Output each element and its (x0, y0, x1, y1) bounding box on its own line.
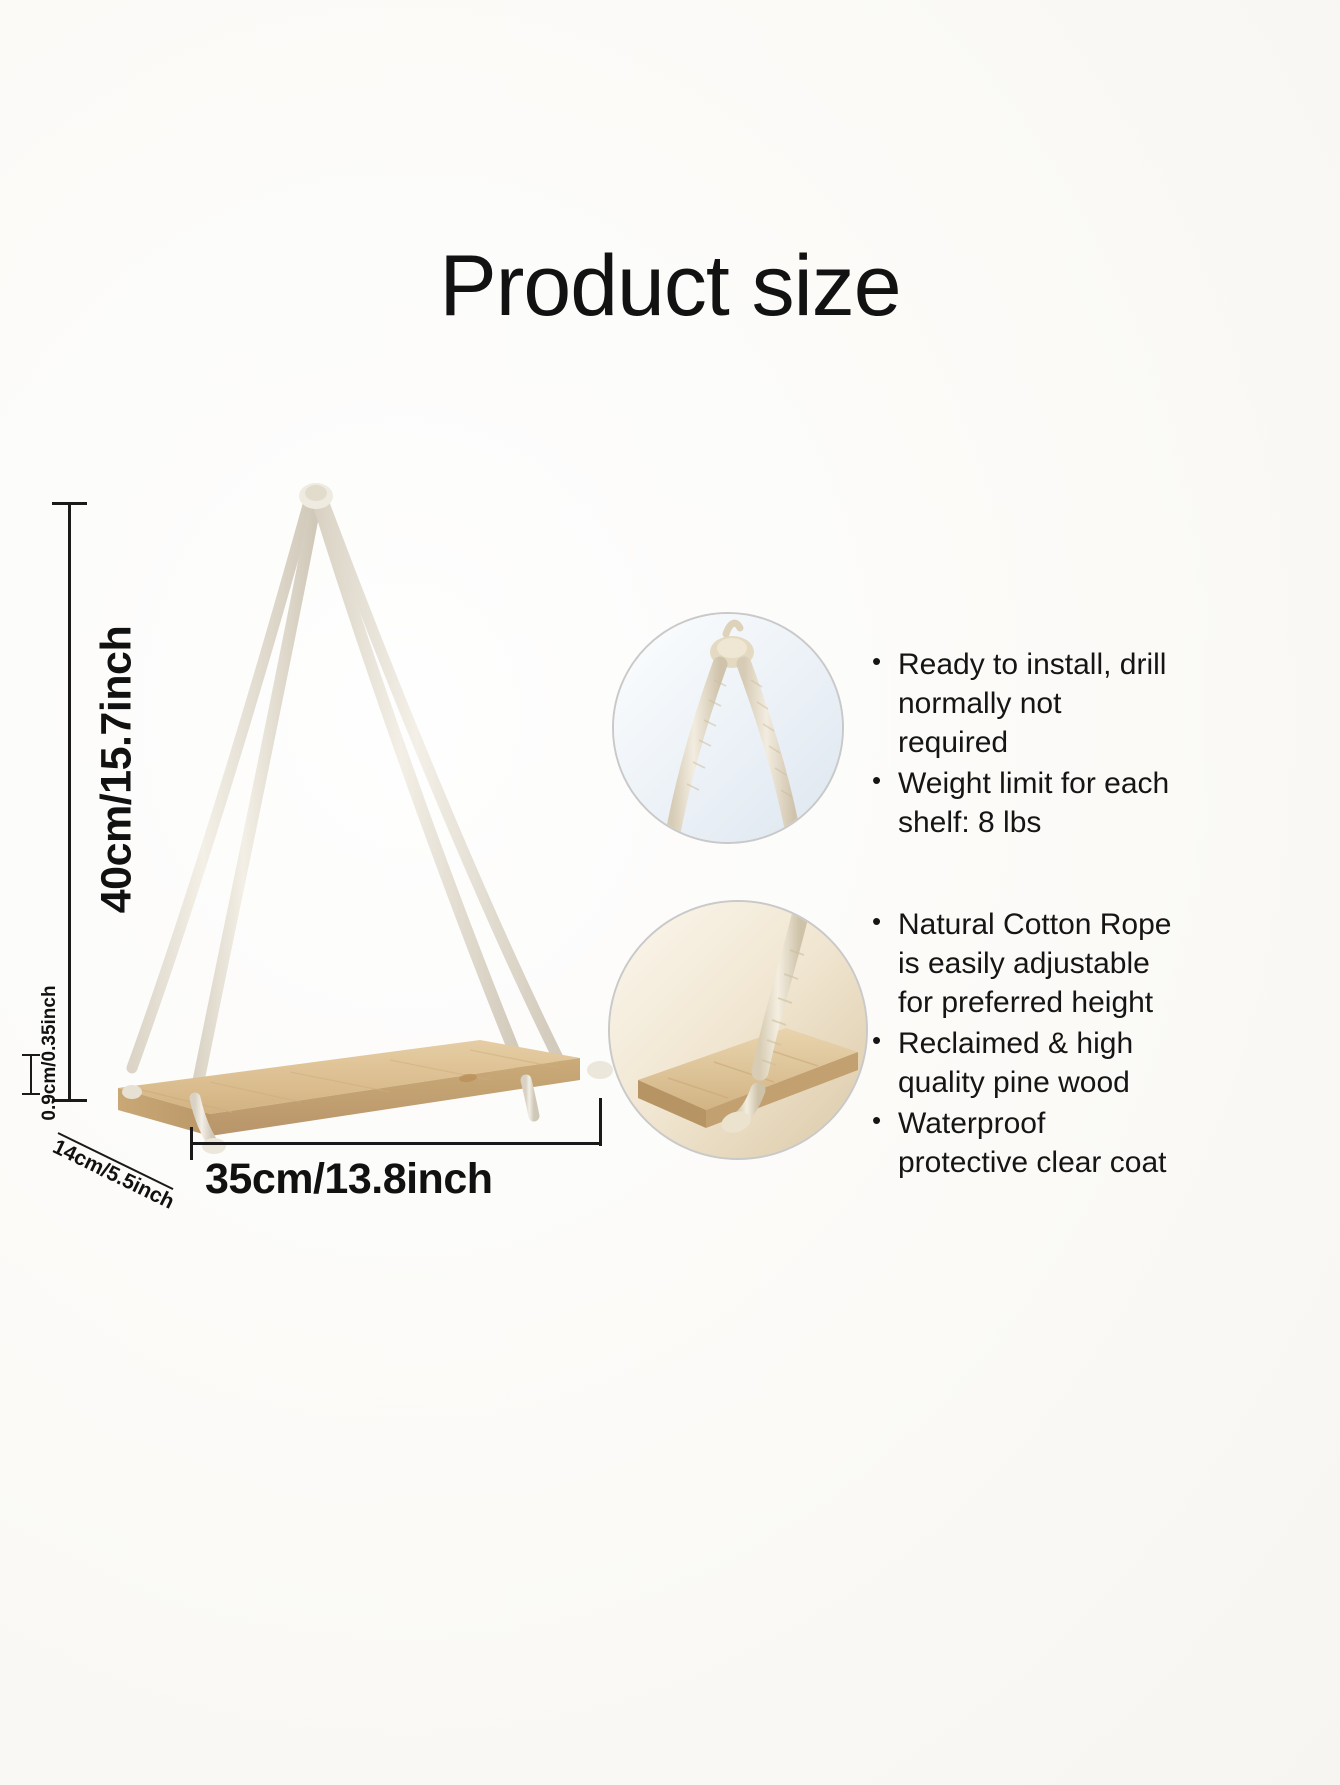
height-dimension-label: 40cm/15.7inch (93, 620, 142, 920)
feature-bullet: Reclaimed & high quality pine wood (872, 1024, 1182, 1102)
shelf-attachment-illustration (610, 902, 868, 1160)
depth-dimension-group: 14cm/5.5inch (52, 1110, 202, 1180)
feature-list-1: Ready to install, drill normally not req… (872, 645, 1172, 844)
rope-shelf-attachment-closeup-photo (608, 900, 868, 1160)
height-dimension-cap-top (52, 502, 87, 505)
artboard: Product size (0, 0, 1340, 1785)
rope-shelf-drawing (60, 480, 640, 1160)
feature-bullet: Waterproof protective clear coat (872, 1104, 1182, 1182)
feature-list-2: Natural Cotton Rope is easily adjustable… (872, 905, 1182, 1184)
feature-bullet: Ready to install, drill normally not req… (872, 645, 1172, 762)
width-dimension-cap-left (190, 1127, 193, 1160)
thickness-dimension-cap-bottom (22, 1093, 40, 1095)
thickness-dimension-cap-top (22, 1054, 40, 1056)
product-illustration-group: 40cm/15.7inch 0.9cm/0.35inch 14cm/5.5inc… (40, 470, 660, 1230)
feature-bullet: Weight limit for each shelf: 8 lbs (872, 764, 1172, 842)
page-title: Product size (0, 243, 1340, 329)
depth-dimension-label: 14cm/5.5inch (49, 1135, 221, 1235)
width-dimension-cap-right (599, 1098, 602, 1146)
width-dimension-label: 35cm/13.8inch (205, 1155, 493, 1204)
rope-knot-closeup-photo (612, 612, 844, 844)
rope-knot-illustration (614, 614, 844, 844)
feature-bullet: Natural Cotton Rope is easily adjustable… (872, 905, 1182, 1022)
product-infographic-page: Product size (0, 0, 1340, 1785)
height-dimension-line (68, 502, 71, 1102)
thickness-dimension-line (30, 1055, 32, 1095)
width-dimension-line (190, 1142, 602, 1145)
